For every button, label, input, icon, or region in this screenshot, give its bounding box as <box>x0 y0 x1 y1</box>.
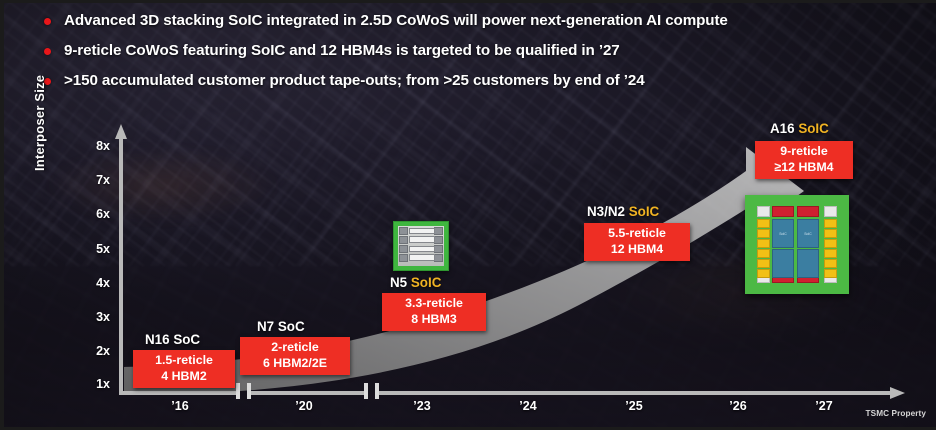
axis-break-mark-2 <box>366 383 377 399</box>
x-tick-27: ’27 <box>804 399 844 413</box>
die-soic-block-2: SoIC <box>797 219 819 248</box>
node-label-n5: N5 SoIC <box>390 275 441 290</box>
y-tick-4x: 4x <box>84 276 110 290</box>
footer-watermark: TSMC Property <box>866 409 926 418</box>
y-tick-7x: 7x <box>84 173 110 187</box>
die-hbm-left-1 <box>757 219 770 228</box>
callout-n5: 3.3-reticle 8 HBM3 <box>382 293 486 331</box>
node-tech-n3n2: SoIC <box>629 204 660 219</box>
die-top-red-1 <box>772 206 794 217</box>
callout-n7-line1: 2-reticle <box>249 340 341 356</box>
die-hbm-left-5 <box>757 259 770 268</box>
x-tick-23: ’23 <box>402 399 442 413</box>
node-label-n16: N16 SoC <box>145 332 200 347</box>
die-hbm-left-3 <box>757 239 770 248</box>
die-hbm-right-5 <box>824 259 837 268</box>
callout-n16-line1: 1.5-reticle <box>142 353 226 369</box>
node-tech-a16: SoIC <box>798 121 829 136</box>
x-tick-25: ’25 <box>614 399 654 413</box>
y-tick-5x: 5x <box>84 242 110 256</box>
callout-a16: 9-reticle ≥12 HBM4 <box>755 141 853 179</box>
callout-n3n2-line1: 5.5-reticle <box>593 226 681 242</box>
y-tick-3x: 3x <box>84 310 110 324</box>
die-top-red-2 <box>797 206 819 217</box>
die-diagram-a16: SoIC SoIC <box>745 195 849 294</box>
node-name-n5: N5 <box>390 275 407 290</box>
die-soic-block-1-label: SoIC <box>779 232 787 236</box>
x-tick-24: ’24 <box>508 399 548 413</box>
x-tick-20: ’20 <box>284 399 324 413</box>
die-hbm-right-3 <box>824 239 837 248</box>
y-tick-2x: 2x <box>84 344 110 358</box>
node-name-n16: N16 <box>145 332 170 347</box>
node-tech-n5: SoIC <box>411 275 442 290</box>
y-axis-arrowhead <box>115 124 127 139</box>
callout-n5-line1: 3.3-reticle <box>391 296 477 312</box>
x-tick-16: ’16 <box>160 399 200 413</box>
callout-n3n2: 5.5-reticle 12 HBM4 <box>584 223 690 261</box>
die-corner-tr <box>824 206 837 217</box>
die-photo-n5-inner <box>398 226 444 266</box>
die-hbm-left-6 <box>757 269 770 278</box>
die-soic-block-3 <box>772 249 794 278</box>
die-corner-tl <box>757 206 770 217</box>
die-soic-block-1: SoIC <box>772 219 794 248</box>
x-axis-arrowhead <box>890 387 905 399</box>
die-photo-n5 <box>393 221 449 271</box>
die-hbm-left-2 <box>757 229 770 238</box>
node-label-n3n2: N3/N2 SoIC <box>587 204 659 219</box>
callout-a16-line1: 9-reticle <box>764 144 844 160</box>
die-hbm-right-6 <box>824 269 837 278</box>
y-axis-title: Interposer Size <box>32 75 47 171</box>
node-name-a16: A16 <box>770 121 795 136</box>
y-tick-6x: 6x <box>84 207 110 221</box>
die-hbm-left-4 <box>757 249 770 258</box>
roadmap-chart: Interposer Size 8x 7x 6x 5x 4x 3x 2x 1x … <box>4 3 936 430</box>
callout-n3n2-line2: 12 HBM4 <box>593 242 681 258</box>
callout-n16: 1.5-reticle 4 HBM2 <box>133 350 235 388</box>
die-hbm-right-4 <box>824 249 837 258</box>
node-tech-n7: SoC <box>278 319 305 334</box>
y-tick-1x: 1x <box>84 377 110 391</box>
callout-n7: 2-reticle 6 HBM2/2E <box>240 337 350 375</box>
node-name-n7: N7 <box>257 319 274 334</box>
die-diagram-a16-inner: SoIC SoIC <box>757 206 837 283</box>
y-tick-8x: 8x <box>84 139 110 153</box>
callout-n5-line2: 8 HBM3 <box>391 312 477 328</box>
node-label-n7: N7 SoC <box>257 319 305 334</box>
die-hbm-right-2 <box>824 229 837 238</box>
node-tech-n16: SoC <box>173 332 200 347</box>
die-hbm-right-1 <box>824 219 837 228</box>
node-name-n3n2: N3/N2 <box>587 204 625 219</box>
callout-n7-line2: 6 HBM2/2E <box>249 356 341 372</box>
die-soic-block-2-label: SoIC <box>804 232 812 236</box>
die-soic-block-4 <box>797 249 819 278</box>
node-label-a16: A16 SoIC <box>770 121 829 136</box>
callout-a16-line2: ≥12 HBM4 <box>764 160 844 176</box>
slide-root: Advanced 3D stacking SoIC integrated in … <box>0 0 936 430</box>
callout-n16-line2: 4 HBM2 <box>142 369 226 385</box>
x-tick-26: ’26 <box>718 399 758 413</box>
